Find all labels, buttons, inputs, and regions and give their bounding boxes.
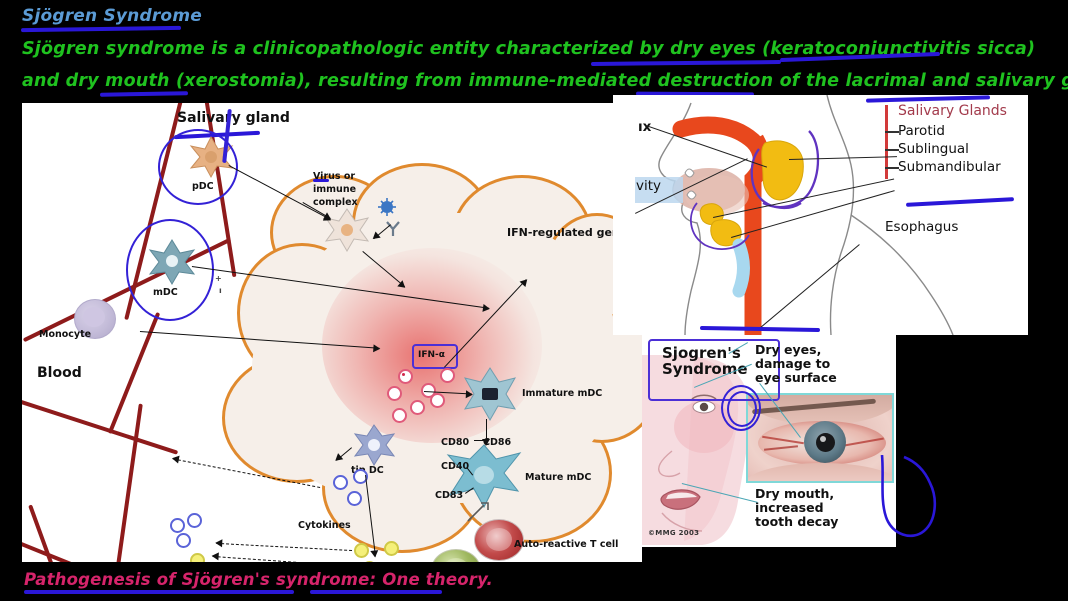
copyright-notice: ©MMG 2003 — [648, 529, 699, 537]
sublingual-label: Sublingual — [898, 141, 969, 157]
blue-lasso-annotation — [880, 455, 950, 545]
tip-dc-icon — [352, 423, 396, 467]
clinical-photo-panel: Sjogren's Syndrome Dry eyes, damage to e… — [642, 335, 896, 547]
ifn-particle — [410, 400, 425, 415]
esophagus-label: Esophagus — [885, 219, 958, 235]
dry-mouth-line-1: Dry mouth, — [755, 487, 834, 501]
monocyte-label: Monocyte — [39, 329, 91, 340]
page-title: Sjögren Syndrome — [22, 6, 202, 26]
underline-dry-mouth — [100, 91, 188, 96]
salivary-gland-heading: Salivary gland — [177, 113, 290, 124]
definition-line-2: and dry mouth (xerostomia), resulting fr… — [22, 71, 1068, 91]
caption-underline-2 — [310, 590, 442, 594]
caption-underline-1 — [24, 590, 294, 594]
cytokine-dot-blue — [347, 491, 362, 506]
cytokine-dot-blue — [333, 475, 348, 490]
parotid-label: Parotid — [898, 123, 945, 139]
dry-eyes-line-1: Dry eyes, — [755, 343, 821, 357]
vessel-line — [22, 541, 103, 562]
cd83-label: CD83 — [435, 490, 463, 501]
eye-closeup-photo — [746, 393, 894, 483]
dry-mouth-line-3: tooth decay — [755, 515, 838, 529]
cytokine-dot-yellow — [384, 541, 399, 556]
ifn-particle — [398, 369, 413, 384]
pathogenesis-diagram-panel: Salivary gland Blood pDC mDC Monocyte Vi… — [22, 103, 642, 562]
immune-complex-icon — [384, 221, 402, 237]
cytokine-dot-blue — [187, 513, 202, 528]
legend-tick — [885, 131, 899, 133]
legend-tick — [885, 149, 899, 151]
vessel-line — [115, 404, 143, 562]
salivary-gland-anatomy-panel: ıx vity Salivary Glands Parotid Sublingu… — [613, 95, 1028, 335]
ifn-alpha-highlight-box — [412, 344, 458, 369]
vessel-line — [108, 312, 160, 434]
head-outline-drawing — [613, 95, 1028, 335]
mdc-highlight-circle — [126, 219, 214, 321]
ifn-particle — [440, 368, 455, 383]
blood-label: Blood — [37, 368, 82, 379]
auto-reactive-t-cell-label: Auto-reactive T cell — [514, 539, 618, 550]
cytokine-dot-yellow — [354, 543, 369, 558]
slide-caption: Pathogenesis of Sjögren's syndrome: One … — [24, 570, 493, 589]
virus-label-line2: immune — [313, 184, 356, 195]
title-underline-annotation — [21, 26, 181, 32]
immature-mdc-label: Immature mDC — [522, 388, 602, 399]
underline-dry-eyes — [591, 60, 781, 65]
arrow-cytokines-to-blood-yellow — [216, 543, 352, 551]
ifn-particle — [392, 408, 407, 423]
ifn-particle — [430, 393, 445, 408]
cd40-label: CD40 — [441, 461, 469, 472]
dry-eyes-line-3: eye surface — [755, 371, 837, 385]
vessel-line — [22, 395, 178, 454]
ifn-particle — [387, 386, 402, 401]
cytokine-dot-blue — [170, 518, 185, 533]
cytokines-label: Cytokines — [298, 520, 351, 531]
cytokine-dot-yellow — [190, 553, 205, 562]
cd80-label: CD80 — [441, 437, 469, 448]
dry-eyes-line-2: damage to — [755, 357, 830, 371]
arrow-bcell-to-blood — [213, 556, 443, 562]
underline-virus — [313, 179, 329, 182]
dry-mouth-line-2: increased — [755, 501, 824, 515]
legend-tick — [885, 167, 899, 169]
cytokine-dot-yellow — [362, 561, 377, 562]
salivary-glands-heading: Salivary Glands — [898, 103, 1007, 119]
arrow-immature-to-mature — [486, 419, 487, 445]
submandibular-label: Submandibular — [898, 159, 1001, 175]
mature-mdc-label: Mature mDC — [525, 472, 591, 483]
virus-particle-icon — [377, 197, 397, 217]
auto-reactive-b-cell-icon — [431, 549, 481, 562]
cytokine-dot-blue — [176, 533, 191, 548]
cell-interaction-icon — [466, 499, 492, 525]
oral-cavity-partial-label: vity — [636, 178, 661, 194]
eye-highlight-circle-outer — [721, 385, 761, 431]
